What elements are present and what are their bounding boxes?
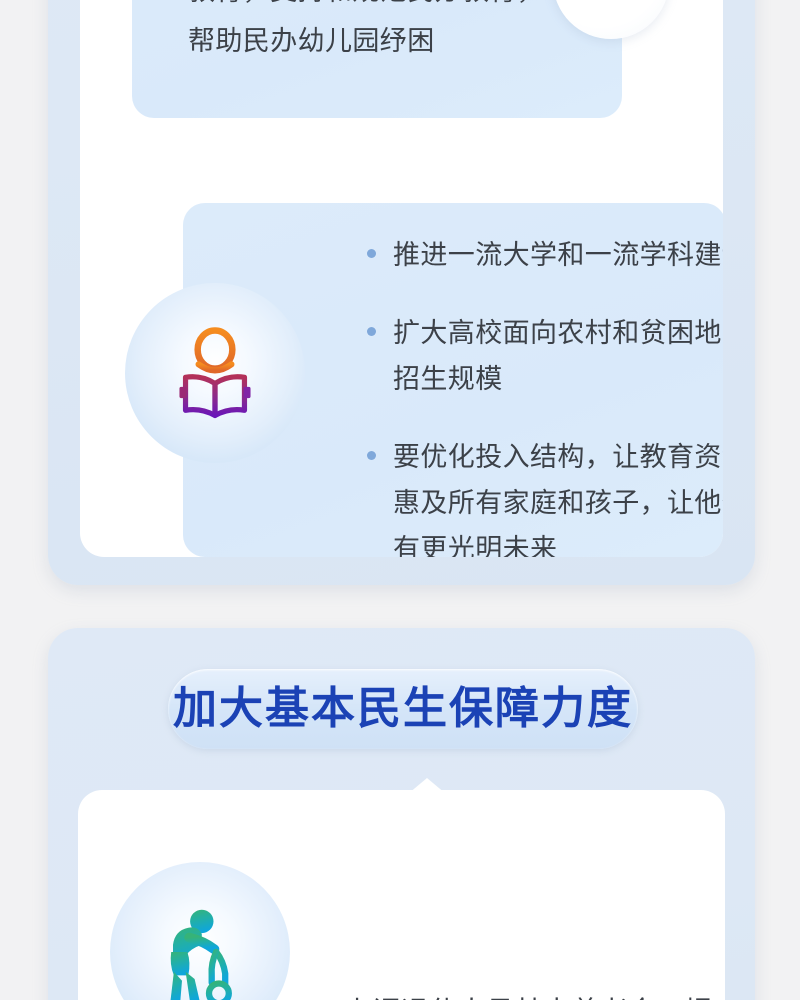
- bullet-dot-icon: [367, 249, 376, 258]
- page-title: 加大基本民生保障力度: [173, 687, 633, 731]
- list-item-text: 扩大高校面向农村和贫困地区 招生规模: [393, 310, 723, 402]
- education-bullet-list: 推进一流大学和一流学科建设 扩大高校面向农村和贫困地区 招生规模 要优化投入结构…: [367, 232, 723, 557]
- person-reading-book-icon: [125, 283, 305, 463]
- livelihood-section-title-pill: 加大基本民生保障力度: [168, 669, 638, 749]
- list-item: 要优化投入结构，让教育资源 惠及所有家庭和孩子，让他们 有更光明未来: [367, 434, 723, 557]
- bullet-dot-icon: [367, 327, 376, 336]
- list-item: 推进一流大学和一流学科建设: [367, 232, 723, 278]
- education-card: 教育，支持和规范民办教育， 帮助民办幼儿园纾困: [48, 0, 755, 585]
- livelihood-card: 加大基本民生保障力度: [48, 628, 755, 1000]
- education-card-inner: 教育，支持和规范民办教育， 帮助民办幼儿园纾困: [80, 0, 723, 557]
- list-item: 上调退休人员基本养老金，提高 城乡居民基础养老金最低标准: [318, 988, 725, 1000]
- title-pill-notch: [396, 778, 458, 804]
- livelihood-bullet-list: 上调退休人员基本养老金，提高 城乡居民基础养老金最低标准 全国近3亿人领取养老金…: [318, 988, 725, 1000]
- list-item-text: 上调退休人员基本养老金，提高 城乡居民基础养老金最低标准: [344, 988, 725, 1000]
- elderly-person-with-cane-icon: [110, 862, 290, 1000]
- bullet-dot-icon: [367, 451, 376, 460]
- list-item: 扩大高校面向农村和贫困地区 招生规模: [367, 310, 723, 402]
- list-item-text: 推进一流大学和一流学科建设: [393, 232, 723, 278]
- list-item-text: 要优化投入结构，让教育资源 惠及所有家庭和孩子，让他们 有更光明未来: [393, 434, 723, 557]
- livelihood-card-inner: 上调退休人员基本养老金，提高 城乡居民基础养老金最低标准 全国近3亿人领取养老金…: [78, 790, 725, 1000]
- education-intro-paragraph: 教育，支持和规范民办教育， 帮助民办幼儿园纾困: [188, 0, 628, 66]
